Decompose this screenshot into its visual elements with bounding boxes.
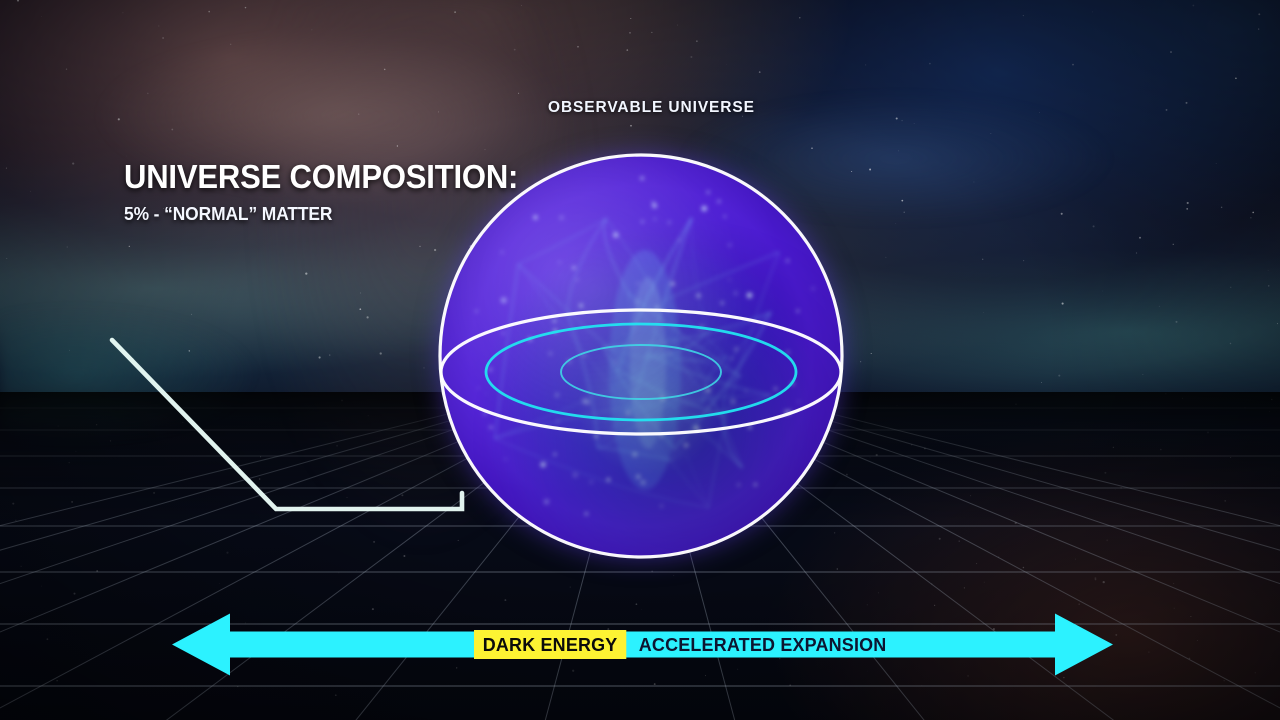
scene-root: OBSERVABLE UNIVERSE UNIVERSE COMPOSITION… (0, 0, 1280, 720)
expansion-banner: DARK ENERGY ACCELERATED EXPANSION (474, 630, 902, 659)
accelerated-expansion-label: ACCELERATED EXPANSION (631, 630, 894, 659)
dark-energy-highlight: DARK ENERGY (474, 630, 626, 659)
